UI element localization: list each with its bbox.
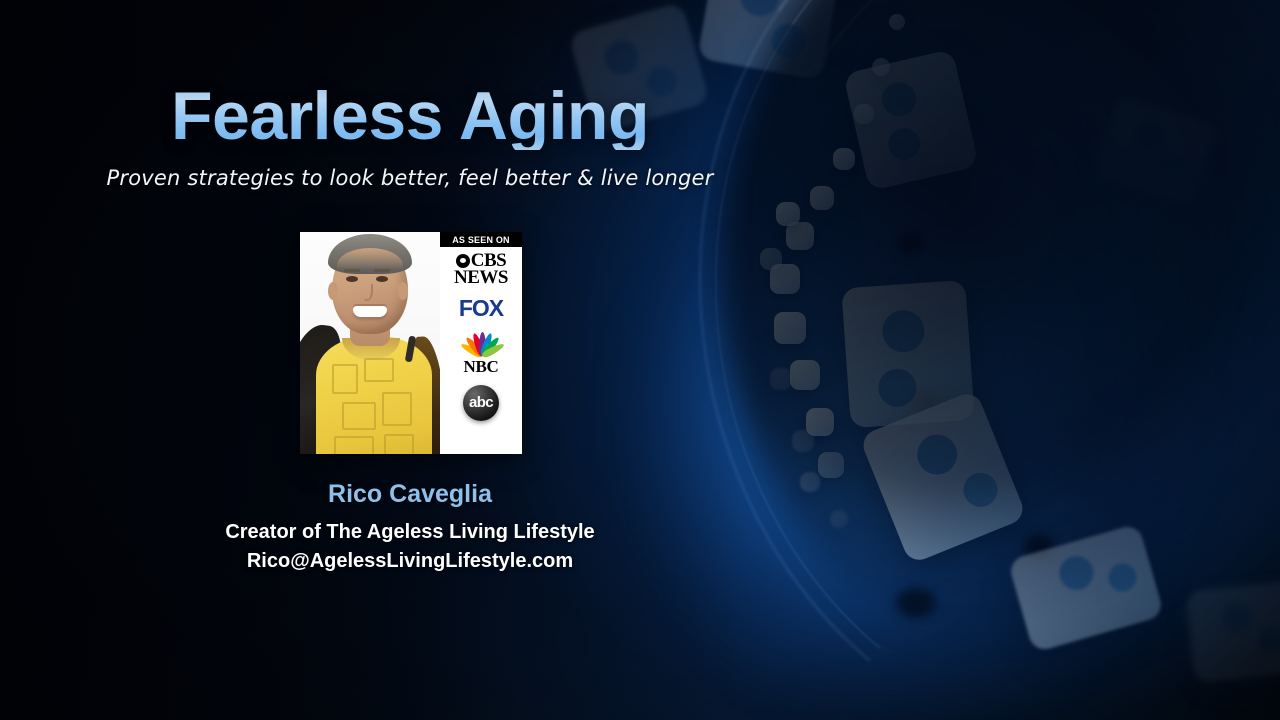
speaker-photo-card: AS SEEN ON CBS NEWS FOX [300,232,522,454]
cbs-eye-icon [456,254,470,268]
slide-subtitle: Proven strategies to look better, feel b… [0,166,820,190]
portrait-hair [328,234,412,274]
portrait-ear-left [328,282,338,300]
presenter-role: Creator of The Ageless Living Lifestyle [0,521,820,544]
portrait-eye-left [346,276,358,282]
presenter-email: Rico@AgelessLivingLifestyle.com [0,550,820,573]
fox-logo: FOX [459,295,503,322]
slide-content: Fearless Aging Proven strategies to look… [0,0,1280,720]
as-seen-on-label: AS SEEN ON [440,232,522,247]
abc-wordmark: abc [469,394,493,411]
as-seen-on-panel: AS SEEN ON CBS NEWS FOX [440,232,522,454]
portrait-brow-right [374,269,390,272]
portrait-shirt [316,336,432,454]
nbc-peacock-icon [462,329,500,356]
portrait-ear-right [398,282,408,300]
presenter-name: Rico Caveglia [0,480,820,509]
portrait-brow-left [344,269,360,272]
presentation-slide: Fearless Aging Proven strategies to look… [0,0,1280,720]
nbc-wordmark: NBC [464,357,499,377]
speaker-portrait [300,232,440,454]
shirt-graphic [330,358,422,454]
cbs-news-wordmark: NEWS [454,269,508,286]
cbs-news-logo: CBS NEWS [454,252,508,287]
slide-title: Fearless Aging [0,82,820,150]
nbc-logo: NBC [462,329,500,377]
abc-circle-icon: abc [463,385,499,421]
portrait-eye-right [376,276,388,282]
portrait-smile [353,306,387,317]
